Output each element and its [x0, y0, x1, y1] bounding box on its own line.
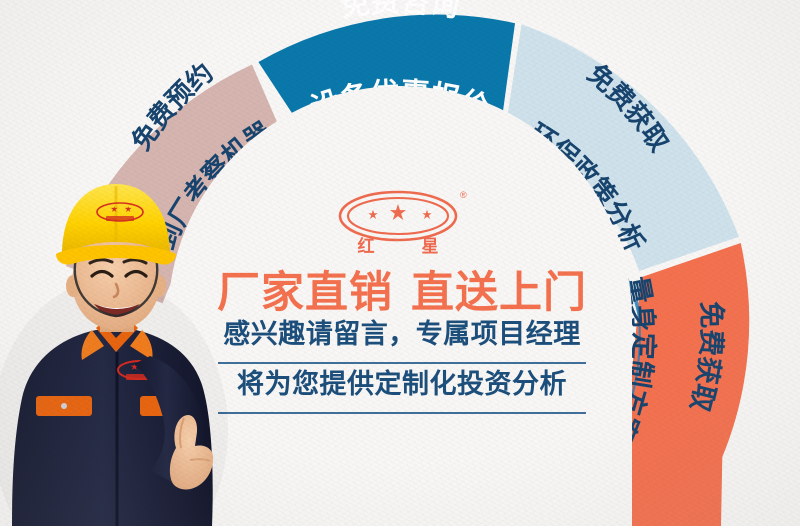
worker-pocket-button-left: [61, 403, 67, 409]
promo-banner: 免费预约 到厂考察机器 免费咨询 设备优惠报价 免费获取 环保政策分析 免费获取…: [0, 0, 800, 526]
worker-photo: [0, 0, 800, 526]
